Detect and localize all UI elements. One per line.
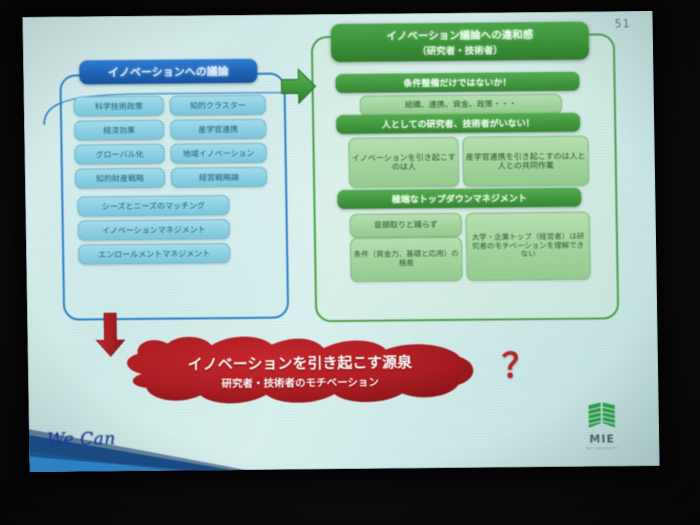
chip-label: 科学技術政策 bbox=[95, 100, 143, 111]
chip-science-technology-policy[interactable]: 科学技術政策 bbox=[74, 96, 164, 117]
chip-label: イノベーションマネジメント bbox=[102, 224, 206, 236]
chip-label: 経済効果 bbox=[103, 124, 135, 135]
green-chip-collaboration-is-joint-work[interactable]: 産学官連携を引き起こすのは人と人との共同作業 bbox=[462, 136, 589, 187]
green-bar-extreme-topdown-management[interactable]: 極端なトップダウンマネジメント bbox=[337, 188, 581, 209]
conclusion-blob-shape bbox=[119, 331, 480, 408]
chip-innovation-management[interactable]: イノベーションマネジメント bbox=[78, 219, 230, 240]
green-chip-label: イノベーションを引き起こすのは人 bbox=[352, 152, 456, 172]
chip-label: 知的財産戦略 bbox=[96, 172, 144, 183]
green-chip-label: 産学官連携を引き起こすのは人と人との共同作業 bbox=[466, 151, 586, 171]
green-bar-label: 条件整備だけではないか！ bbox=[403, 75, 511, 89]
right-panel-header-line2: （研究者・技術者） bbox=[417, 42, 503, 57]
chip-management-strategy-theory[interactable]: 経営戦略論 bbox=[171, 167, 267, 188]
left-panel-header: イノベーションへの議論 bbox=[79, 59, 257, 85]
chip-enrollment-management[interactable]: エンロールメントマネジメント bbox=[78, 243, 230, 264]
green-bar-label: 人としての研究者、技術者がいない！ bbox=[382, 116, 535, 130]
chip-seeds-needs-matching[interactable]: シーズとニーズのマッチング bbox=[77, 195, 229, 216]
mie-logo-icon bbox=[586, 402, 618, 430]
arrow-right-icon bbox=[279, 66, 318, 106]
chip-label: 知的クラスター bbox=[190, 99, 246, 111]
green-bar-conditions-only[interactable]: 条件整備だけではないか！ bbox=[335, 72, 579, 93]
green-chip-label: 音頭取りと踊らず bbox=[374, 220, 438, 230]
left-panel-header-label: イノベーションへの議論 bbox=[108, 63, 229, 80]
mie-wordmark: MIE bbox=[589, 432, 615, 445]
chip-label: シーズとニーズのマッチング bbox=[102, 200, 205, 212]
green-chip-top-cannot-understand-motivation[interactable]: 大学・企業トップ（経営者）は研究者のモチベーションを理解できない bbox=[466, 212, 591, 281]
green-bar-no-human-researcher[interactable]: 人としての研究者、技術者がいない！ bbox=[336, 113, 580, 134]
wecan-logo: We Can bbox=[47, 429, 116, 450]
green-chip-label: 大学・企業トップ（経営者）は研究者のモチベーションを理解できない bbox=[469, 232, 587, 260]
green-chip-innovation-caused-by-people[interactable]: イノベーションを引き起こすのは人 bbox=[348, 137, 459, 188]
chip-industry-academia-government[interactable]: 産学官連携 bbox=[170, 119, 266, 140]
chip-label: エンロールメントマネジメント bbox=[98, 248, 210, 260]
chip-label: 地域イノベーション bbox=[183, 147, 255, 159]
green-chip-condition-gap[interactable]: 条件（資金力、基礎と応用）の格差 bbox=[350, 237, 463, 282]
mie-logo: MIE MIE UNIVERSITY bbox=[579, 402, 626, 450]
chip-ip-strategy[interactable]: 知的財産戦略 bbox=[75, 168, 165, 189]
chip-label: 産学官連携 bbox=[198, 123, 238, 134]
projection-screen: 51 イノベーションへの議論 科学技術政策 経済効果 グローバル化 知的財産戦略 bbox=[22, 11, 659, 472]
mie-subtitle: MIE UNIVERSITY bbox=[587, 446, 618, 450]
chip-regional-innovation[interactable]: 地域イノベーション bbox=[170, 143, 266, 164]
page-number: 51 bbox=[615, 17, 631, 30]
right-panel-header-line1: イノベーション議論への違和感 bbox=[386, 27, 533, 43]
right-panel-header: イノベーション議論への違和感 （研究者・技術者） bbox=[331, 22, 590, 62]
green-chip-label: 条件（資金力、基礎と応用）の格差 bbox=[353, 250, 459, 269]
photo-of-projected-slide: 51 イノベーションへの議論 科学技術政策 経済効果 グローバル化 知的財産戦略 bbox=[0, 0, 700, 525]
chip-economic-effect[interactable]: 経済効果 bbox=[74, 120, 164, 141]
question-mark: ？ bbox=[502, 338, 537, 387]
green-bar-label: 極端なトップダウンマネジメント bbox=[392, 191, 527, 205]
chip-label: グローバル化 bbox=[96, 148, 144, 159]
presentation-slide: 51 イノベーションへの議論 科学技術政策 経済効果 グローバル化 知的財産戦略 bbox=[22, 11, 659, 472]
chip-label: 経営戦略論 bbox=[199, 171, 239, 182]
chip-intellectual-cluster[interactable]: 知的クラスター bbox=[170, 95, 266, 116]
chip-globalization[interactable]: グローバル化 bbox=[74, 144, 164, 165]
green-chip-label: 組織、連携、資金、政策・・・ bbox=[405, 100, 517, 111]
green-chip-leader-and-no-dance[interactable]: 音頭取りと踊らず bbox=[350, 213, 462, 238]
